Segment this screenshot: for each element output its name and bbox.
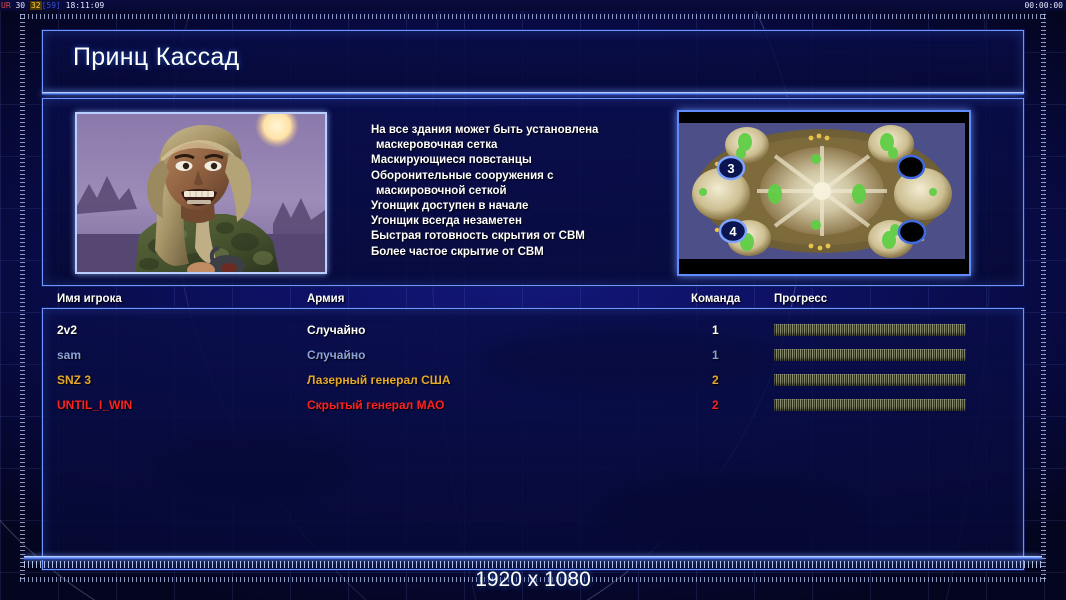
ability-line: Более частое скрытие от СВМ [371,245,671,260]
status-tag-b: 32 [30,1,42,10]
player-name: 2v2 [57,323,77,337]
top-status-left: UR 30 32[59] 18:11:09 [1,0,104,11]
player-team: 1 [712,348,719,362]
ruler-top [20,14,1046,19]
table-row[interactable]: UNTIL_I_WIN Скрытый генерал МАО 2 [43,394,1023,419]
status-clock-left: 18:11:09 [66,1,105,10]
progress-track [774,349,966,361]
ability-line: На все здания может быть установлена [371,123,671,138]
progress-track [774,324,966,336]
top-status-bar: UR 30 32[59] 18:11:09 00:00:00 [0,0,1066,11]
table-row[interactable]: 2v2 Случайно 1 [43,319,1023,344]
portrait-artwork [77,114,325,272]
title-bar: Принц Кассад [42,30,1024,93]
player-army: Скрытый генерал МАО [307,398,444,412]
ability-line: Угонщик доступен в начале [371,199,671,214]
info-panel: На все здания может быть установлена мас… [42,98,1024,286]
player-army: Случайно [307,348,365,362]
ability-line: Маскирующиеся повстанцы [371,153,671,168]
svg-text:3: 3 [727,161,734,176]
start-position-4: 4 [720,220,746,242]
progress-fill [774,349,966,361]
footer-ruler [24,561,1042,568]
ruler-right [1041,14,1046,582]
status-tag-a: 30 [15,1,25,10]
player-team: 1 [712,323,719,337]
table-row[interactable]: sam Случайно 1 [43,344,1023,369]
header-team: Команда [691,293,740,305]
header-army: Армия [307,293,344,305]
progress-fill [774,374,966,386]
minimap-artwork: 3 4 [679,112,965,270]
general-portrait [75,112,327,274]
start-position-empty [898,156,924,178]
ruler-left [20,14,25,582]
player-team: 2 [712,398,719,412]
ability-line: маскировочной сеткой [371,184,671,199]
progress-track [774,399,966,411]
table-row[interactable]: SNZ 3 Лазерный генерал США 2 [43,369,1023,394]
ability-line: Оборонительные сооружения с [371,169,671,184]
start-position-empty [899,221,925,243]
status-tag-ur: UR [1,1,11,10]
progress-fill [774,324,966,336]
footer-divider [24,556,1042,560]
progress-track [774,374,966,386]
player-army: Лазерный генерал США [307,373,451,387]
player-army: Случайно [307,323,365,337]
loading-screen-window: Принц Кассад [42,30,1024,570]
player-list-panel: Имя игрока Армия Команда Прогресс 2v2 Сл… [42,308,1024,570]
start-position-3: 3 [718,157,744,179]
player-name: sam [57,348,81,362]
player-team: 2 [712,373,719,387]
header-player-name: Имя игрока [57,293,122,305]
player-name: SNZ 3 [57,373,91,387]
ability-line: Угонщик всегда незаметен [371,214,671,229]
status-tag-c: [59] [42,1,61,10]
ability-line: Быстрая готовность скрытия от СВМ [371,229,671,244]
player-list-header: Имя игрока Армия Команда Прогресс [43,293,1025,310]
svg-text:4: 4 [729,224,737,239]
title-divider [42,92,1024,95]
ability-line: маскеровочная сетка [371,138,671,153]
resolution-label: 1920 x 1080 [0,568,1066,592]
status-clock-right: 00:00:00 [1024,0,1063,11]
progress-fill [774,399,966,411]
player-name: UNTIL_I_WIN [57,398,132,412]
header-progress: Прогресс [774,293,827,305]
general-ability-list: На все здания может быть установлена мас… [371,123,671,260]
page-title: Принц Кассад [73,43,239,72]
minimap-preview: 3 4 [677,110,971,276]
